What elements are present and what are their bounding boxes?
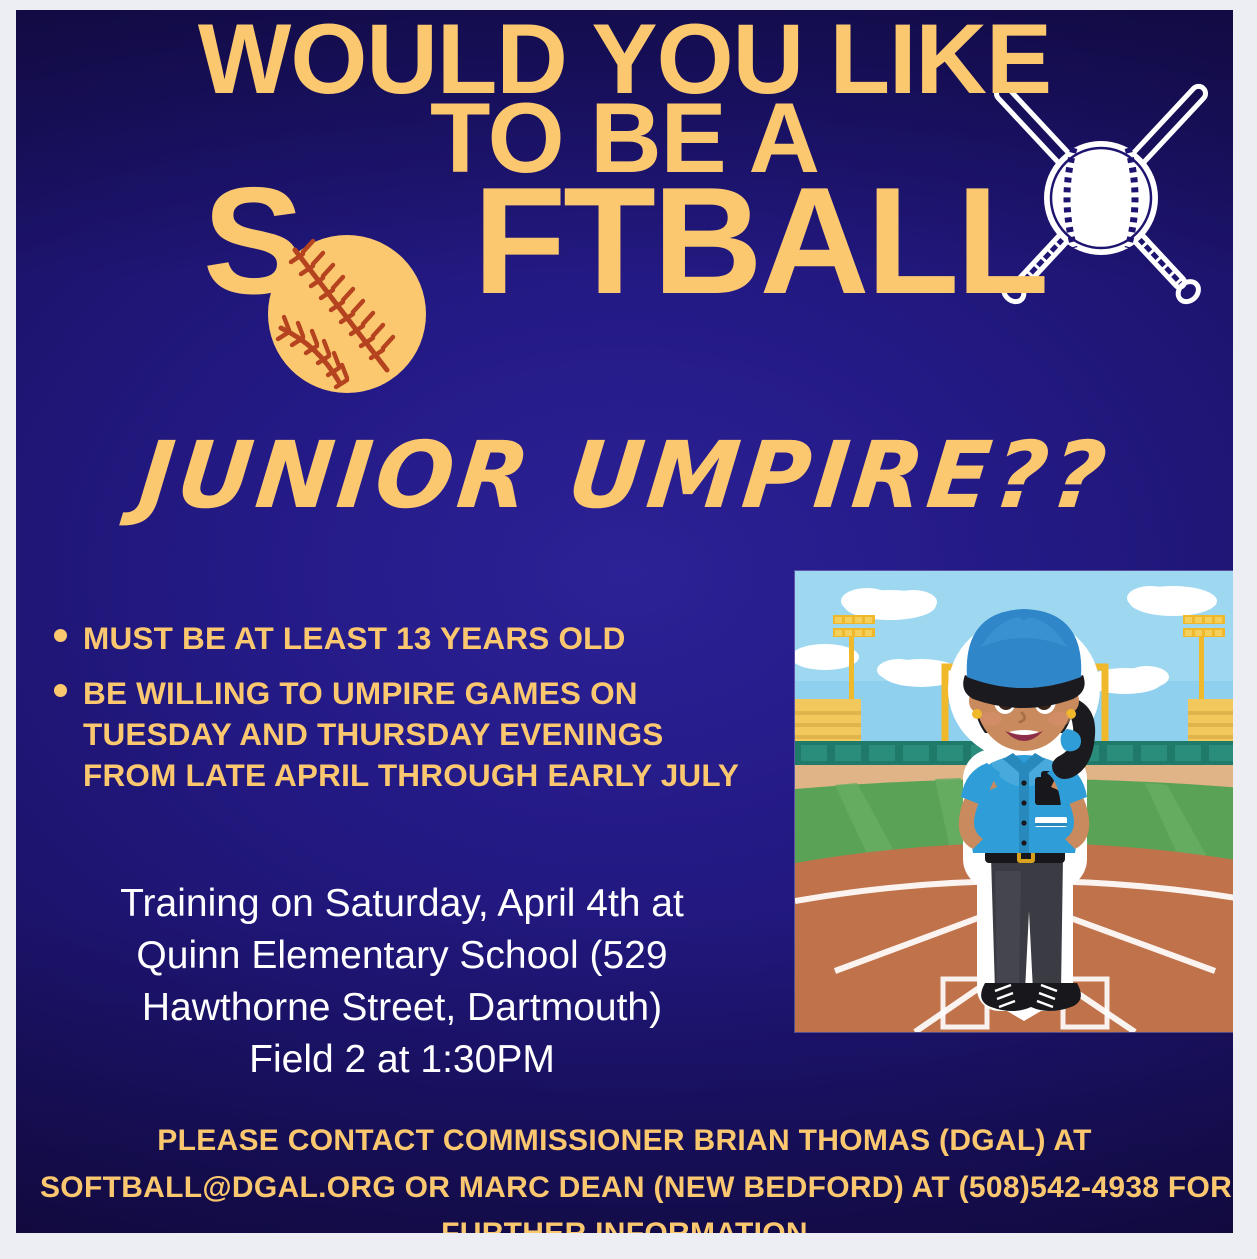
training-info: Training on Saturday, April 4th at Quinn…	[44, 878, 760, 1085]
requirement-text: BE WILLING TO UMPIRE GAMES ON TUESDAY AN…	[83, 673, 750, 796]
headline-line-3-after-ball: FTBALL	[473, 156, 1046, 326]
list-item: MUST BE AT LEAST 13 YEARS OLD	[50, 618, 750, 659]
female-umpire-on-baseball-field-illustration	[795, 571, 1233, 1032]
list-item: BE WILLING TO UMPIRE GAMES ON TUESDAY AN…	[50, 673, 750, 796]
contact-line-2: SOFTBALL@DGAL.ORG OR MARC DEAN (NEW BEDF…	[40, 1165, 1209, 1212]
headline-line-1: WOULD YOU LIKE	[16, 16, 1233, 101]
training-line-4: Field 2 at 1:30PM	[44, 1034, 760, 1086]
requirement-text: MUST BE AT LEAST 13 YEARS OLD	[83, 618, 626, 659]
training-line-2: Quinn Elementary School (529	[44, 930, 760, 982]
poster-panel: WOULD YOU LIKE TO BE A SFTBALL	[16, 10, 1233, 1233]
training-line-3: Hawthorne Street, Dartmouth)	[44, 982, 760, 1034]
script-subtitle: JUNIOR UMPIRE??	[16, 422, 1233, 529]
headline: WOULD YOU LIKE TO BE A SFTBALL	[16, 16, 1233, 307]
headline-line-3: SFTBALL	[16, 176, 1233, 307]
softball-umpire-flyer: WOULD YOU LIKE TO BE A SFTBALL	[0, 0, 1257, 1259]
contact-footer: PLEASE CONTACT COMMISSIONER BRIAN THOMAS…	[40, 1118, 1209, 1233]
softball-ball-icon	[265, 232, 429, 396]
requirements-list: MUST BE AT LEAST 13 YEARS OLD BE WILLING…	[50, 618, 750, 810]
contact-line-3: FURTHER INFORMATION	[40, 1211, 1209, 1233]
bullet-dot-icon	[54, 629, 67, 642]
training-line-1: Training on Saturday, April 4th at	[44, 878, 760, 930]
contact-line-1: PLEASE CONTACT COMMISSIONER BRIAN THOMAS…	[40, 1118, 1209, 1165]
bullet-dot-icon	[54, 684, 67, 697]
